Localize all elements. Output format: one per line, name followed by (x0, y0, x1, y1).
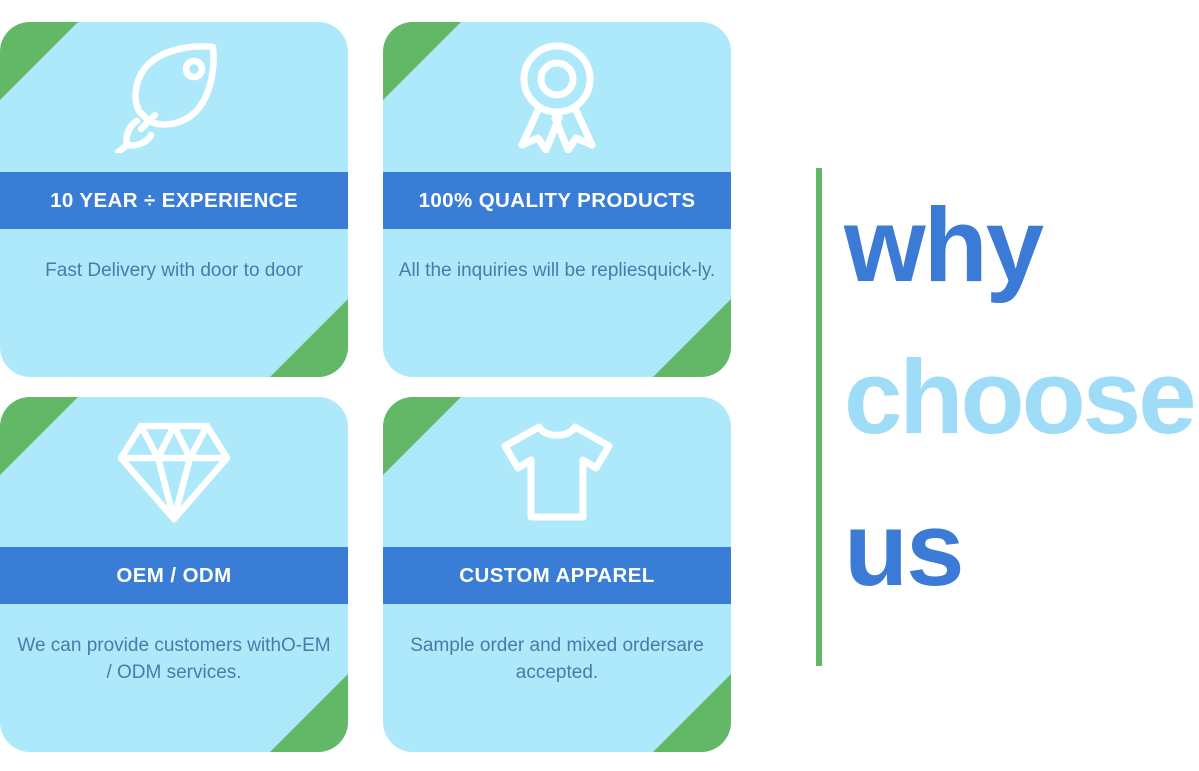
card-description: All the inquiries will be repliesquick-l… (397, 257, 717, 284)
rocket-icon (0, 22, 348, 172)
card-title-band: 10 YEAR ÷ EXPERIENCE (0, 172, 348, 229)
feature-card-custom-apparel[interactable]: CUSTOM APPAREL Sample order and mixed or… (383, 397, 731, 752)
card-description-area: Sample order and mixed ordersare accepte… (383, 604, 731, 752)
tshirt-icon (383, 397, 731, 547)
headline-line-why: why (844, 193, 1042, 298)
why-choose-us-banner: 10 YEAR ÷ EXPERIENCE Fast Delivery with … (0, 0, 1199, 771)
card-title: 100% QUALITY PRODUCTS (419, 189, 696, 213)
feature-card-oem-odm[interactable]: OEM / ODM We can provide customers withO… (0, 397, 348, 752)
card-title-band: 100% QUALITY PRODUCTS (383, 172, 731, 229)
green-accent-line (816, 168, 822, 666)
card-description: Sample order and mixed ordersare accepte… (397, 632, 717, 686)
card-description: Fast Delivery with door to door (14, 257, 334, 284)
card-description-area: We can provide customers withO-EM / ODM … (0, 604, 348, 752)
diamond-icon (0, 397, 348, 547)
feature-card-quality[interactable]: 100% QUALITY PRODUCTS All the inquiries … (383, 22, 731, 377)
card-description: We can provide customers withO-EM / ODM … (14, 632, 334, 686)
headline-line-choose: choose (844, 345, 1194, 450)
headline-panel: why choose us (806, 0, 1199, 771)
card-title-band: CUSTOM APPAREL (383, 547, 731, 604)
card-title: OEM / ODM (116, 564, 231, 588)
card-description-area: Fast Delivery with door to door (0, 229, 348, 377)
award-ribbon-icon (383, 22, 731, 172)
card-title-band: OEM / ODM (0, 547, 348, 604)
card-title: 10 YEAR ÷ EXPERIENCE (50, 189, 298, 213)
headline-line-us: us (844, 497, 963, 602)
card-description-area: All the inquiries will be repliesquick-l… (383, 229, 731, 377)
card-title: CUSTOM APPAREL (459, 564, 654, 588)
feature-card-experience[interactable]: 10 YEAR ÷ EXPERIENCE Fast Delivery with … (0, 22, 348, 377)
